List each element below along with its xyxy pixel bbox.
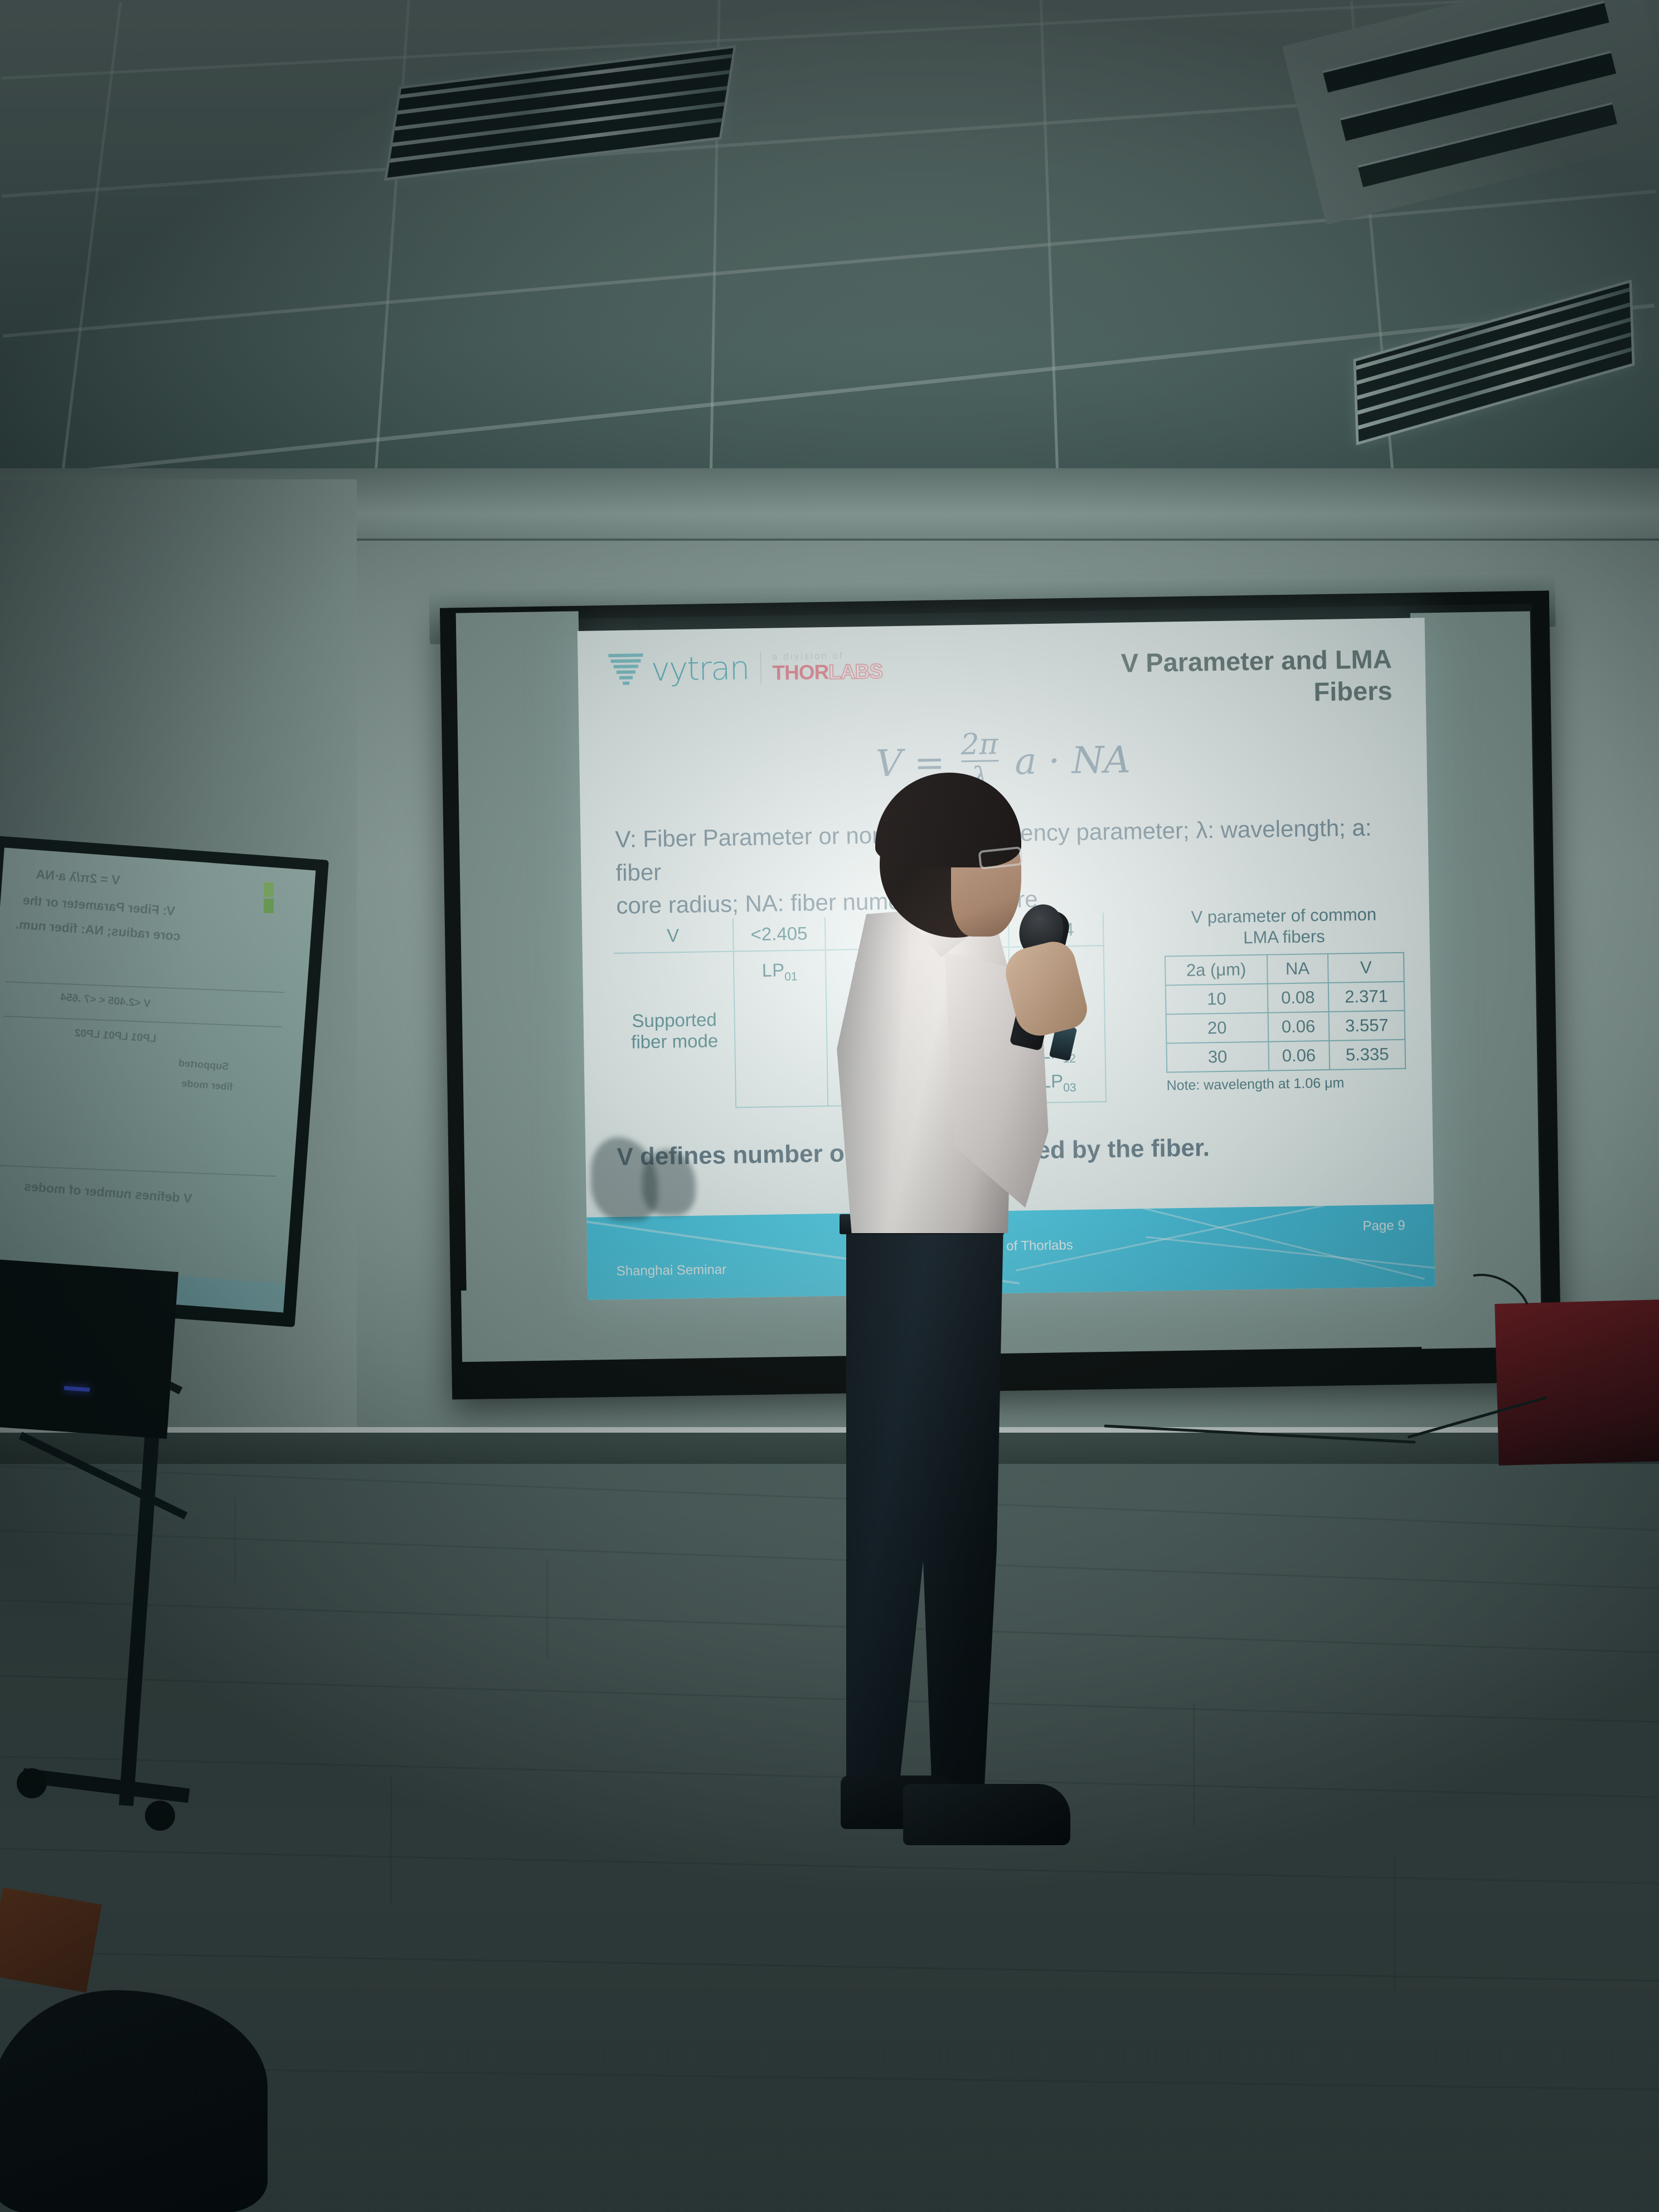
thorlabs-labs-text: LABS	[828, 661, 882, 682]
slide-footer-band: Shanghai Seminar A Division of Thorlabs …	[586, 1204, 1435, 1300]
thorlabs-thor-text: THOR	[772, 662, 828, 683]
whiteboard-reflection-text: V: Fiber Parameter or the	[22, 892, 176, 919]
side-table-edge	[0, 1888, 102, 1993]
lma-header-diameter: 2a (μm)	[1165, 955, 1267, 986]
mode-table-mode-label: Supported fiber mode	[614, 952, 736, 1110]
air-conditioner-unit	[1282, 0, 1659, 225]
mode-label-line-1: Supported	[618, 1008, 730, 1031]
whiteboard-reflection-text: core radius; NA: fiber num.	[15, 916, 181, 944]
conference-room-scene: vytran a division of THOR LABS V Paramet…	[0, 0, 1659, 2212]
ceiling-light-fixture-2	[1353, 279, 1634, 445]
whiteboard-reflection-text: fiber mode	[181, 1078, 233, 1093]
table-header-row: 2a (μm) NA V	[1165, 953, 1404, 986]
lma-cell-diameter: 10	[1166, 984, 1268, 1015]
vytran-logo: vytran a division of THOR LABS	[608, 648, 882, 687]
formula-numerator: 2π	[961, 730, 998, 759]
mode-label-line-2: fiber mode	[618, 1030, 731, 1052]
formula-lhs: V	[875, 742, 903, 785]
whiteboard-marker-clip	[264, 882, 274, 897]
lma-cell-diameter: 20	[1166, 1013, 1268, 1044]
whiteboard-reflection-text: V defines number of modes	[23, 1179, 192, 1206]
lma-cell-na: 0.06	[1268, 1012, 1329, 1042]
lma-cell-diameter: 30	[1166, 1042, 1268, 1073]
mode-table-v-label: V	[613, 919, 734, 953]
whiteboard-reflection-text: LP01 LP01 LP02	[74, 1027, 157, 1046]
mode-table-col1-v: <2.405	[733, 917, 826, 952]
lma-header-na: NA	[1267, 954, 1328, 984]
speaker-shoe-right	[903, 1784, 1070, 1845]
lma-header-v: V	[1328, 953, 1404, 983]
whiteboard-marker-clip-2	[264, 899, 274, 913]
chair	[0, 1990, 268, 2212]
lma-cell-v: 5.335	[1329, 1040, 1405, 1070]
table-row: 30 0.06 5.335	[1166, 1040, 1405, 1073]
ceiling	[0, 0, 1659, 491]
lma-table-note: Note: wavelength at 1.06 μm	[1166, 1074, 1406, 1094]
whiteboard-reflection-text: V = 2π/λ a·NA	[36, 867, 121, 888]
vytran-triangle-icon	[608, 652, 643, 687]
lma-cell-na: 0.08	[1267, 983, 1328, 1013]
lma-table-title: V parameter of common LMA fibers	[1164, 904, 1404, 950]
footer-left-text: Shanghai Seminar	[617, 1262, 727, 1279]
lma-fiber-table: 2a (μm) NA V 10 0.08 2.371 20 0.06 3.557…	[1165, 952, 1406, 1073]
display-monitor	[0, 1259, 178, 1439]
slide-title-line-1: V Parameter and LMA	[1046, 643, 1392, 680]
slide-title-line-2: Fibers	[1046, 675, 1393, 712]
lma-cell-v: 2.371	[1328, 982, 1405, 1012]
lma-cell-na: 0.06	[1268, 1041, 1330, 1071]
whiteboard-reflection-text: Supported	[178, 1058, 229, 1073]
v-parameter-formula: V = 2π λ a · NA	[579, 726, 1428, 803]
whiteboard-caster	[145, 1801, 175, 1831]
whiteboard-reflection-text: V <2.405 < <7 .654	[60, 992, 151, 1011]
lma-title-line-1: V parameter of common	[1164, 904, 1404, 929]
ceiling-light-fixture	[384, 45, 736, 181]
mode-table-col1-modes: LP01	[734, 950, 828, 1108]
table-row: 10 0.08 2.371	[1166, 982, 1405, 1015]
lma-parameter-panel: V parameter of common LMA fibers 2a (μm)…	[1164, 904, 1406, 1094]
whiteboard-surface: V = 2π/λ a·NA V: Fiber Parameter or the …	[0, 848, 316, 1313]
lma-cell-v: 3.557	[1328, 1011, 1405, 1041]
table-row: 20 0.06 3.557	[1166, 1011, 1405, 1044]
whiteboard-caster-2	[17, 1768, 47, 1798]
slide-title: V Parameter and LMA Fibers	[1046, 643, 1393, 712]
logo-divider	[760, 652, 761, 684]
footer-page-number: Page 9	[1362, 1218, 1405, 1234]
vytran-wordmark: vytran	[651, 652, 749, 686]
lma-title-line-2: LMA fibers	[1164, 925, 1404, 950]
formula-rest: a · NA	[1015, 738, 1131, 783]
